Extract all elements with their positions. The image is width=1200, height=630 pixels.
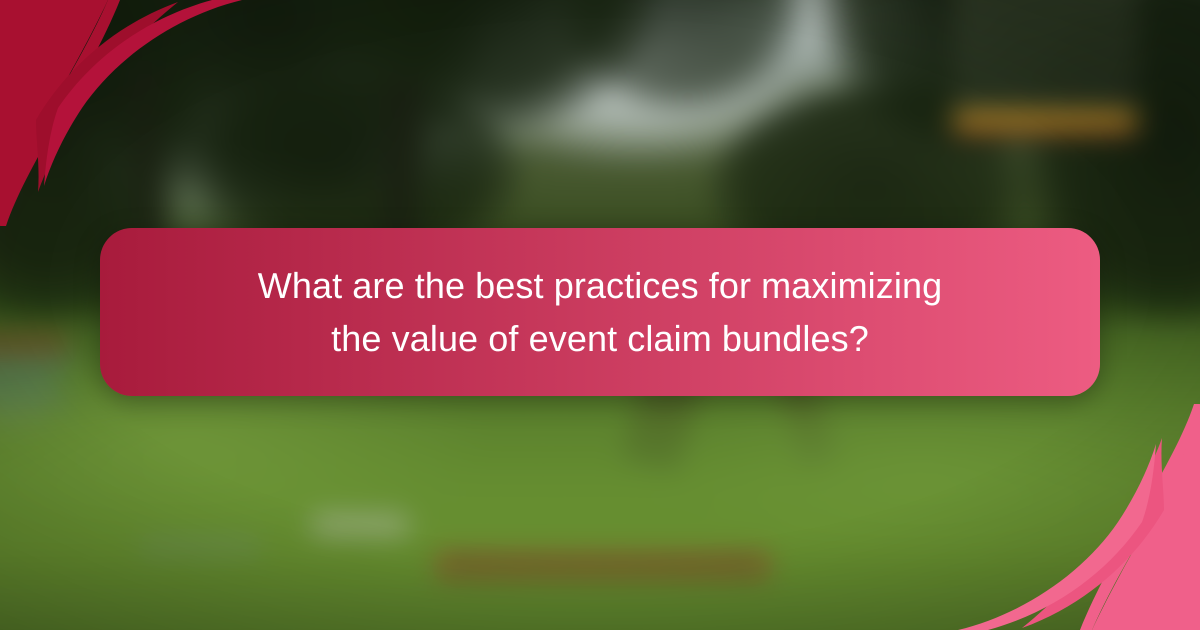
swoosh-top-left xyxy=(0,0,300,230)
swoosh-top-left-shape xyxy=(0,0,300,230)
question-line-2: the value of event claim bundles? xyxy=(331,318,869,359)
question-line-1: What are the best practices for maximizi… xyxy=(258,265,942,306)
question-card: What are the best practices for maximizi… xyxy=(100,228,1100,396)
swoosh-bottom-right-shape xyxy=(900,400,1200,630)
question-text: What are the best practices for maximizi… xyxy=(204,259,996,366)
swoosh-bottom-right xyxy=(900,400,1200,630)
share-card-canvas: What are the best practices for maximizi… xyxy=(0,0,1200,630)
